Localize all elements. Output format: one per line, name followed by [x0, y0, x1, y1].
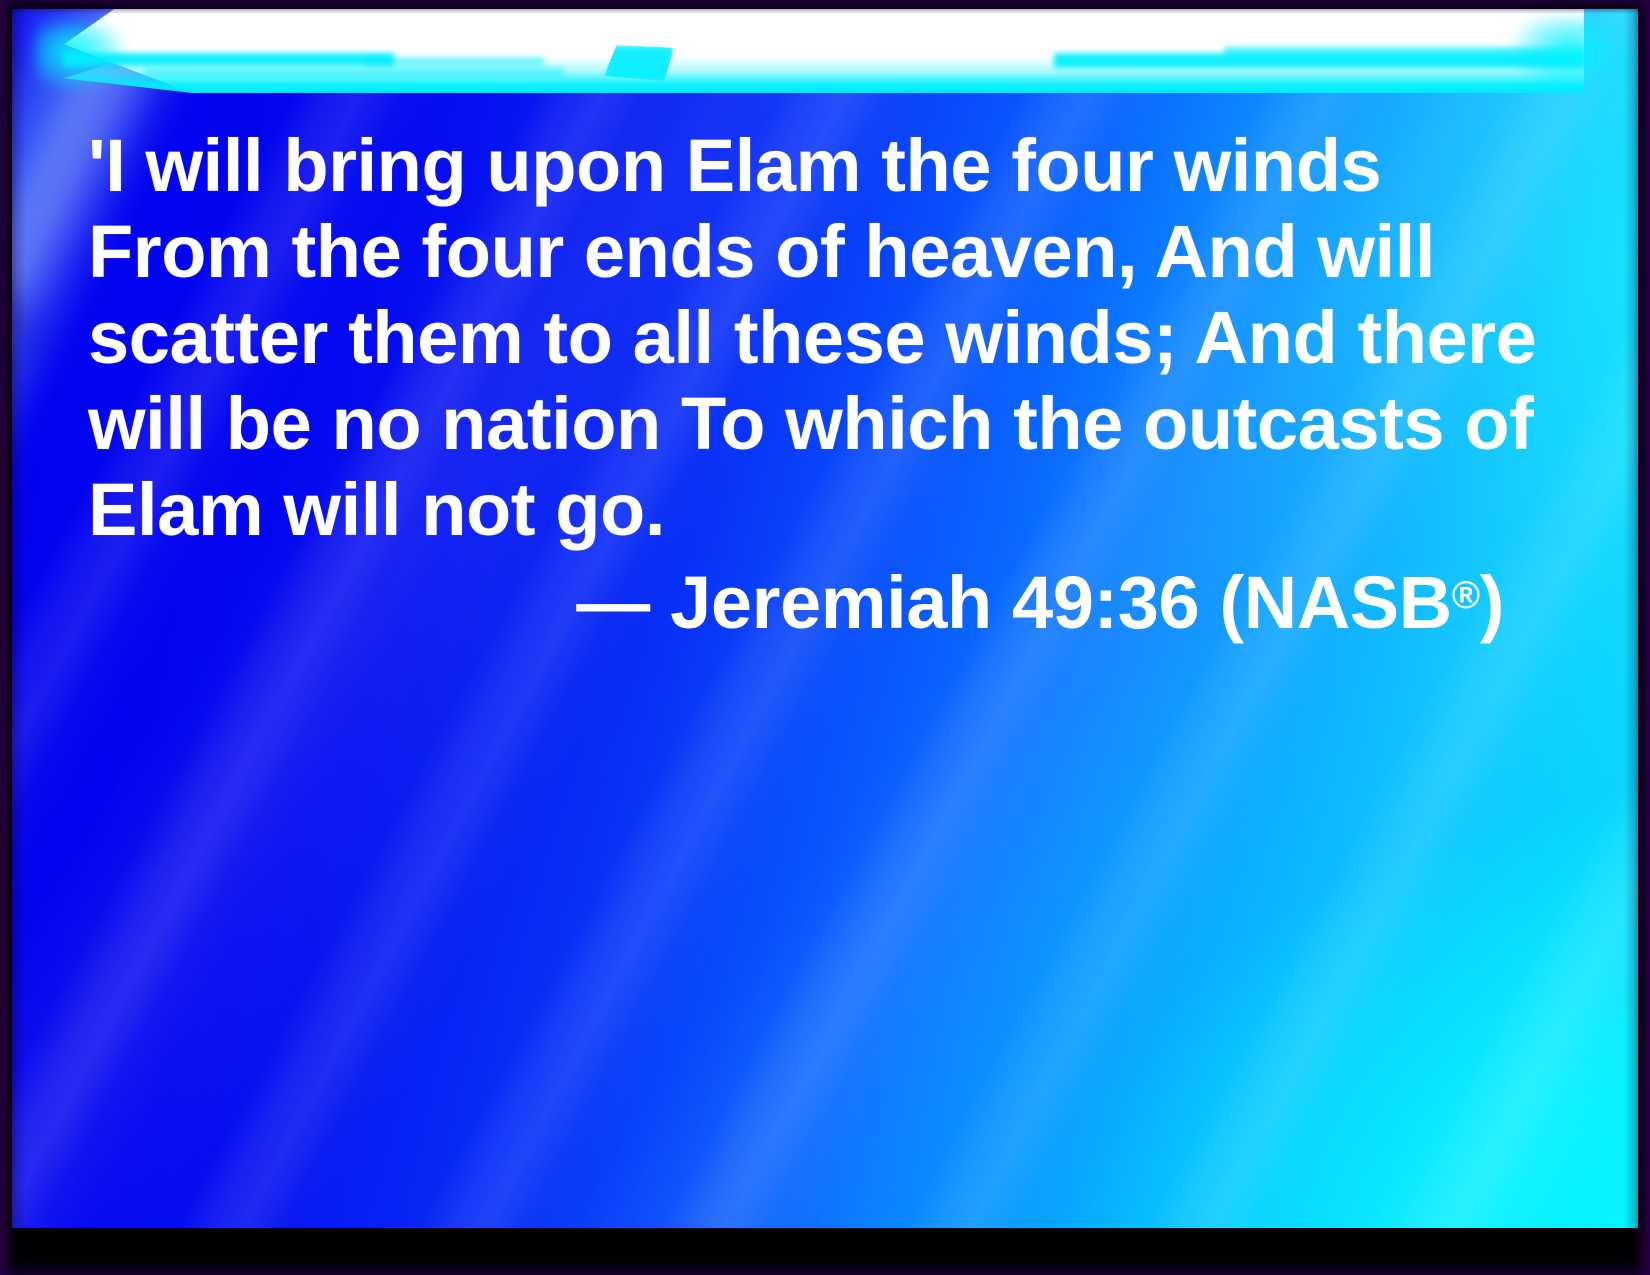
verse-line: From the four ends of heaven, And will: [88, 209, 1508, 295]
verse-attribution: — Jeremiah 49:36 (NASB®): [88, 553, 1508, 646]
top-highlight-band: [64, 9, 1584, 93]
registered-trademark-icon: ®: [1452, 574, 1480, 617]
attribution-book: Jeremiah: [670, 561, 992, 644]
attribution-translation-open: (NASB: [1219, 561, 1451, 644]
verse-text-block: 'I will bring upon Elam the four winds F…: [88, 123, 1508, 646]
attribution-em-dash: —: [576, 561, 650, 644]
verse-line: Elam will not go.: [88, 467, 1508, 553]
attribution-translation-close: ): [1480, 561, 1504, 644]
top-band-wisp: [364, 57, 544, 66]
verse-line: 'I will bring upon Elam the four winds: [88, 123, 1508, 209]
attribution-spacer: [992, 561, 1012, 644]
top-band-wisp: [144, 67, 564, 77]
slide-frame: 'I will bring upon Elam the four winds F…: [0, 0, 1650, 1275]
attribution-spacer: [650, 561, 670, 644]
slide-canvas: 'I will bring upon Elam the four winds F…: [12, 9, 1638, 1228]
verse-line: will be no nation To which the outcasts …: [88, 381, 1508, 467]
top-band-right-glow: [1492, 19, 1622, 99]
top-band-left-glow: [36, 23, 156, 97]
top-band-wisp: [604, 45, 674, 81]
attribution-spacer: [1199, 561, 1219, 644]
attribution-reference: 49:36: [1012, 561, 1199, 644]
verse-line: scatter them to all these winds; And the…: [88, 295, 1508, 381]
